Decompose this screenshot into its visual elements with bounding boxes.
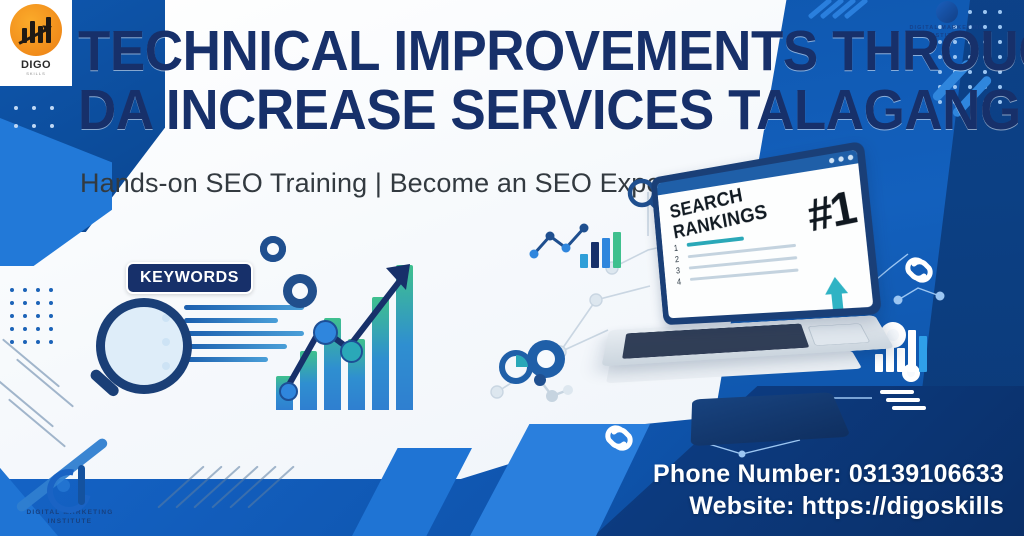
trend-node-3 xyxy=(340,340,363,363)
trend-node-1 xyxy=(279,382,298,401)
gear-icon-2 xyxy=(283,274,317,308)
seo-marketing-banner: DIGO SKILLS DIGITAL MARKETING INSTITUTE … xyxy=(0,0,1024,536)
laptop-screen: SEARCH RANKINGS #1 1234 xyxy=(657,149,874,318)
gear-icon-1 xyxy=(260,236,286,262)
rank-number: #1 xyxy=(803,181,859,243)
molecule-icon xyxy=(530,368,578,410)
contact-block: Phone Number: 03139106633 Website: https… xyxy=(653,458,1004,522)
magnifying-glass-icon xyxy=(96,298,192,394)
phone-number: Phone Number: 03139106633 xyxy=(653,458,1004,490)
trend-node-2 xyxy=(313,320,338,345)
rank-list-numbers: 1234 xyxy=(673,242,681,287)
up-arrow-icon xyxy=(823,276,848,295)
keywords-badge: KEYWORDS xyxy=(126,262,253,294)
laptop-illustration: SEARCH RANKINGS #1 1234 xyxy=(600,160,900,425)
laptop-lid: SEARCH RANKINGS #1 1234 xyxy=(651,141,882,325)
laptop-keyboard xyxy=(622,324,809,359)
link-chain-icon-right xyxy=(898,250,942,290)
laptop-trackpad xyxy=(808,323,871,346)
rank-result-rows xyxy=(687,230,800,289)
website-url: Website: https://digoskills xyxy=(653,490,1004,522)
